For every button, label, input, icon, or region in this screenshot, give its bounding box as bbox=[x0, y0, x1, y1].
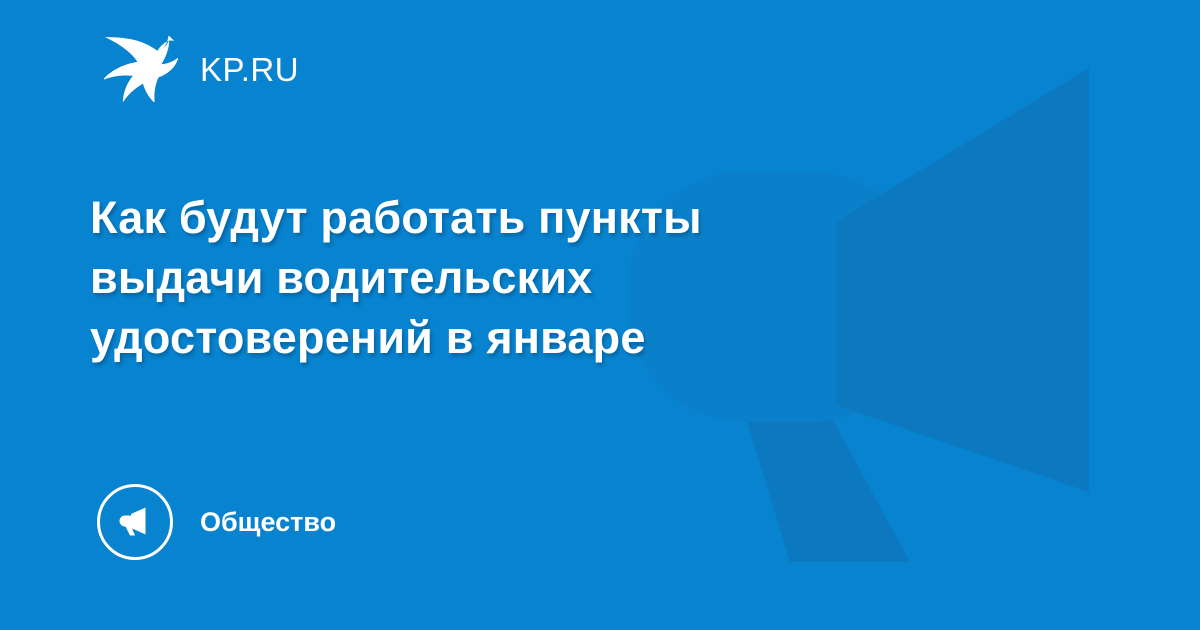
megaphone-watermark-handle bbox=[735, 382, 910, 562]
brand-logo[interactable]: KP.RU bbox=[104, 36, 299, 102]
swallow-bird-icon bbox=[104, 36, 178, 102]
page-title: Как будут работать пункты выдачи водител… bbox=[90, 188, 920, 368]
headline-line-3: удостоверений в январе bbox=[90, 308, 920, 368]
megaphone-icon bbox=[115, 502, 155, 542]
category-icon-circle bbox=[97, 484, 173, 560]
article-share-card: KP.RU Как будут работать пункты выдачи в… bbox=[0, 0, 1200, 630]
headline-line-1: Как будут работать пункты bbox=[90, 188, 920, 248]
brand-name: KP.RU bbox=[200, 53, 299, 86]
category-badge[interactable]: Общество bbox=[97, 483, 336, 561]
category-label: Общество bbox=[200, 509, 336, 536]
headline-line-2: выдачи водительских bbox=[90, 248, 920, 308]
